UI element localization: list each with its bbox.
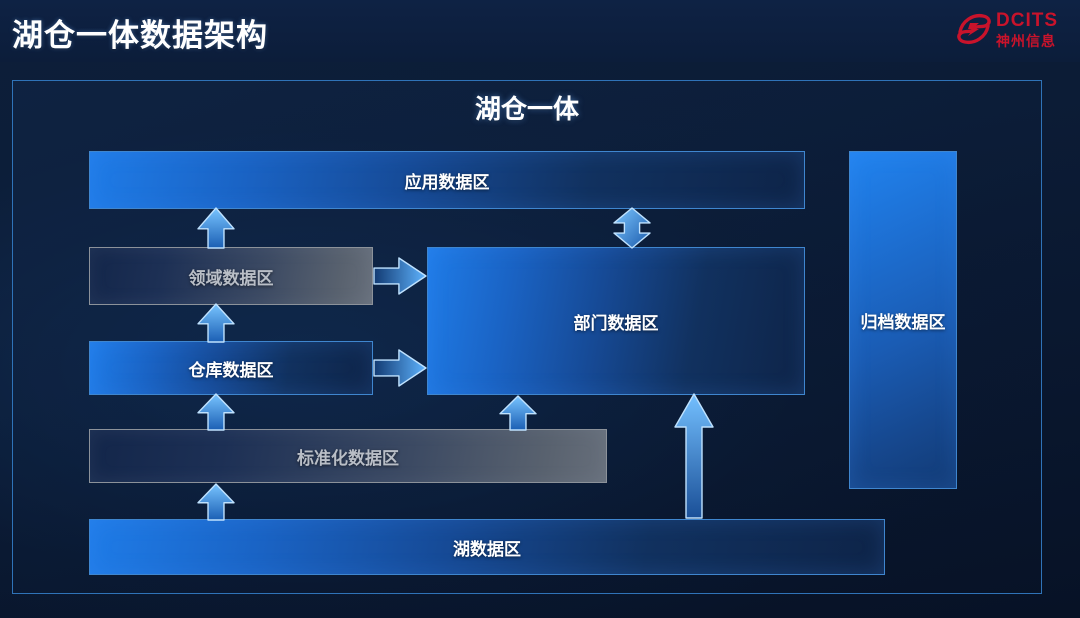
arrow-warehouse-to-domain bbox=[197, 303, 235, 343]
architecture-diagram: 湖仓一体 应用数据区领域数据区仓库数据区标准化数据区湖数据区部门数据区归档数据区 bbox=[12, 80, 1042, 594]
box-label: 湖数据区 bbox=[453, 535, 521, 560]
box-standard[interactable]: 标准化数据区 bbox=[89, 429, 607, 483]
box-label: 归档数据区 bbox=[861, 308, 946, 333]
box-label: 应用数据区 bbox=[405, 168, 490, 193]
box-label: 标准化数据区 bbox=[297, 444, 399, 469]
box-dept[interactable]: 部门数据区 bbox=[427, 247, 805, 395]
arrow-lake-to-standard bbox=[197, 483, 235, 521]
arrow-app-dept-bidir bbox=[613, 207, 651, 249]
box-lake[interactable]: 湖数据区 bbox=[89, 519, 885, 575]
arrow-standard-to-warehouse bbox=[197, 393, 235, 431]
dcits-logo: DCITS 神州信息 bbox=[956, 8, 1072, 52]
logo-cn-text: 神州信息 bbox=[996, 31, 1056, 51]
dcits-swirl-icon bbox=[956, 12, 992, 46]
arrow-domain-to-app bbox=[197, 207, 235, 249]
box-domain[interactable]: 领域数据区 bbox=[89, 247, 373, 305]
box-label: 仓库数据区 bbox=[189, 356, 274, 381]
arrow-warehouse-to-dept bbox=[373, 349, 427, 387]
arrow-lake-to-dept bbox=[674, 393, 714, 519]
logo-en-text: DCITS bbox=[996, 10, 1058, 32]
box-app[interactable]: 应用数据区 bbox=[89, 151, 805, 209]
slide-header: 湖仓一体数据架构 DCITS 神州信息 bbox=[0, 0, 1080, 62]
box-label: 部门数据区 bbox=[574, 309, 659, 334]
box-label: 领域数据区 bbox=[189, 264, 274, 289]
arrow-standard-to-dept bbox=[499, 395, 537, 431]
box-archive[interactable]: 归档数据区 bbox=[849, 151, 957, 489]
diagram-title: 湖仓一体 bbox=[13, 89, 1041, 126]
arrow-domain-to-dept bbox=[373, 257, 427, 295]
page-title: 湖仓一体数据架构 bbox=[12, 10, 268, 55]
box-warehouse[interactable]: 仓库数据区 bbox=[89, 341, 373, 395]
